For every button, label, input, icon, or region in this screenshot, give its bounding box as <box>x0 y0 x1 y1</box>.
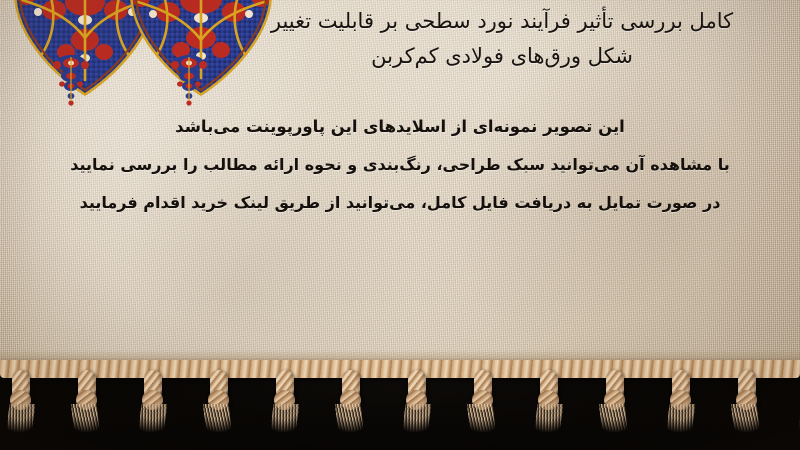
fringe-tassel <box>470 370 496 442</box>
fringe-tassel <box>668 370 694 442</box>
fringe-tassel <box>536 370 562 442</box>
slide-body-line-2: با مشاهده آن می‌توانید سبک طراحی، رنگ‌بن… <box>0 146 800 184</box>
fringe-tassel <box>404 370 430 442</box>
slide-body-line-3: در صورت تمایل به دریافت فایل کامل، می‌تو… <box>0 184 800 222</box>
slide-text-layer: کامل بررسی تأثیر فرآیند نورد سطحی بر قاب… <box>0 0 800 372</box>
tassel-threads <box>533 404 564 444</box>
carpet-fringe-tassels <box>0 360 800 450</box>
tassel-threads <box>731 404 761 444</box>
tassel-threads <box>401 404 432 444</box>
tassel-threads <box>335 404 365 444</box>
slide-title-line-1: کامل بررسی تأثیر فرآیند نورد سطحی بر قاب… <box>271 9 733 33</box>
fringe-tassel <box>140 370 166 442</box>
tassel-threads <box>467 404 497 444</box>
slide-body-text: این تصویر نمونه‌ای از اسلایدهای این پاور… <box>0 108 800 222</box>
fringe-tassel <box>602 370 628 442</box>
slide-canvas: کامل بررسی تأثیر فرآیند نورد سطحی بر قاب… <box>0 0 800 450</box>
fringe-tassel <box>8 370 34 442</box>
slide-title-line-2: شکل ورق‌های فولادی کم‌کربن <box>371 44 633 68</box>
slide-title: کامل بررسی تأثیر فرآیند نورد سطحی بر قاب… <box>222 4 782 74</box>
tassel-threads <box>5 404 36 444</box>
tassel-threads <box>137 404 168 444</box>
tassel-threads <box>71 404 101 444</box>
fringe-tassel <box>206 370 232 442</box>
tassel-threads <box>269 404 300 444</box>
fringe-tassel <box>338 370 364 442</box>
fringe-tassel <box>734 370 760 442</box>
tassel-threads <box>599 404 629 444</box>
fringe-tassel <box>74 370 100 442</box>
tassel-threads <box>665 404 696 444</box>
slide-body-line-1: این تصویر نمونه‌ای از اسلایدهای این پاور… <box>0 108 800 146</box>
tassel-threads <box>203 404 233 444</box>
fringe-tassel <box>272 370 298 442</box>
